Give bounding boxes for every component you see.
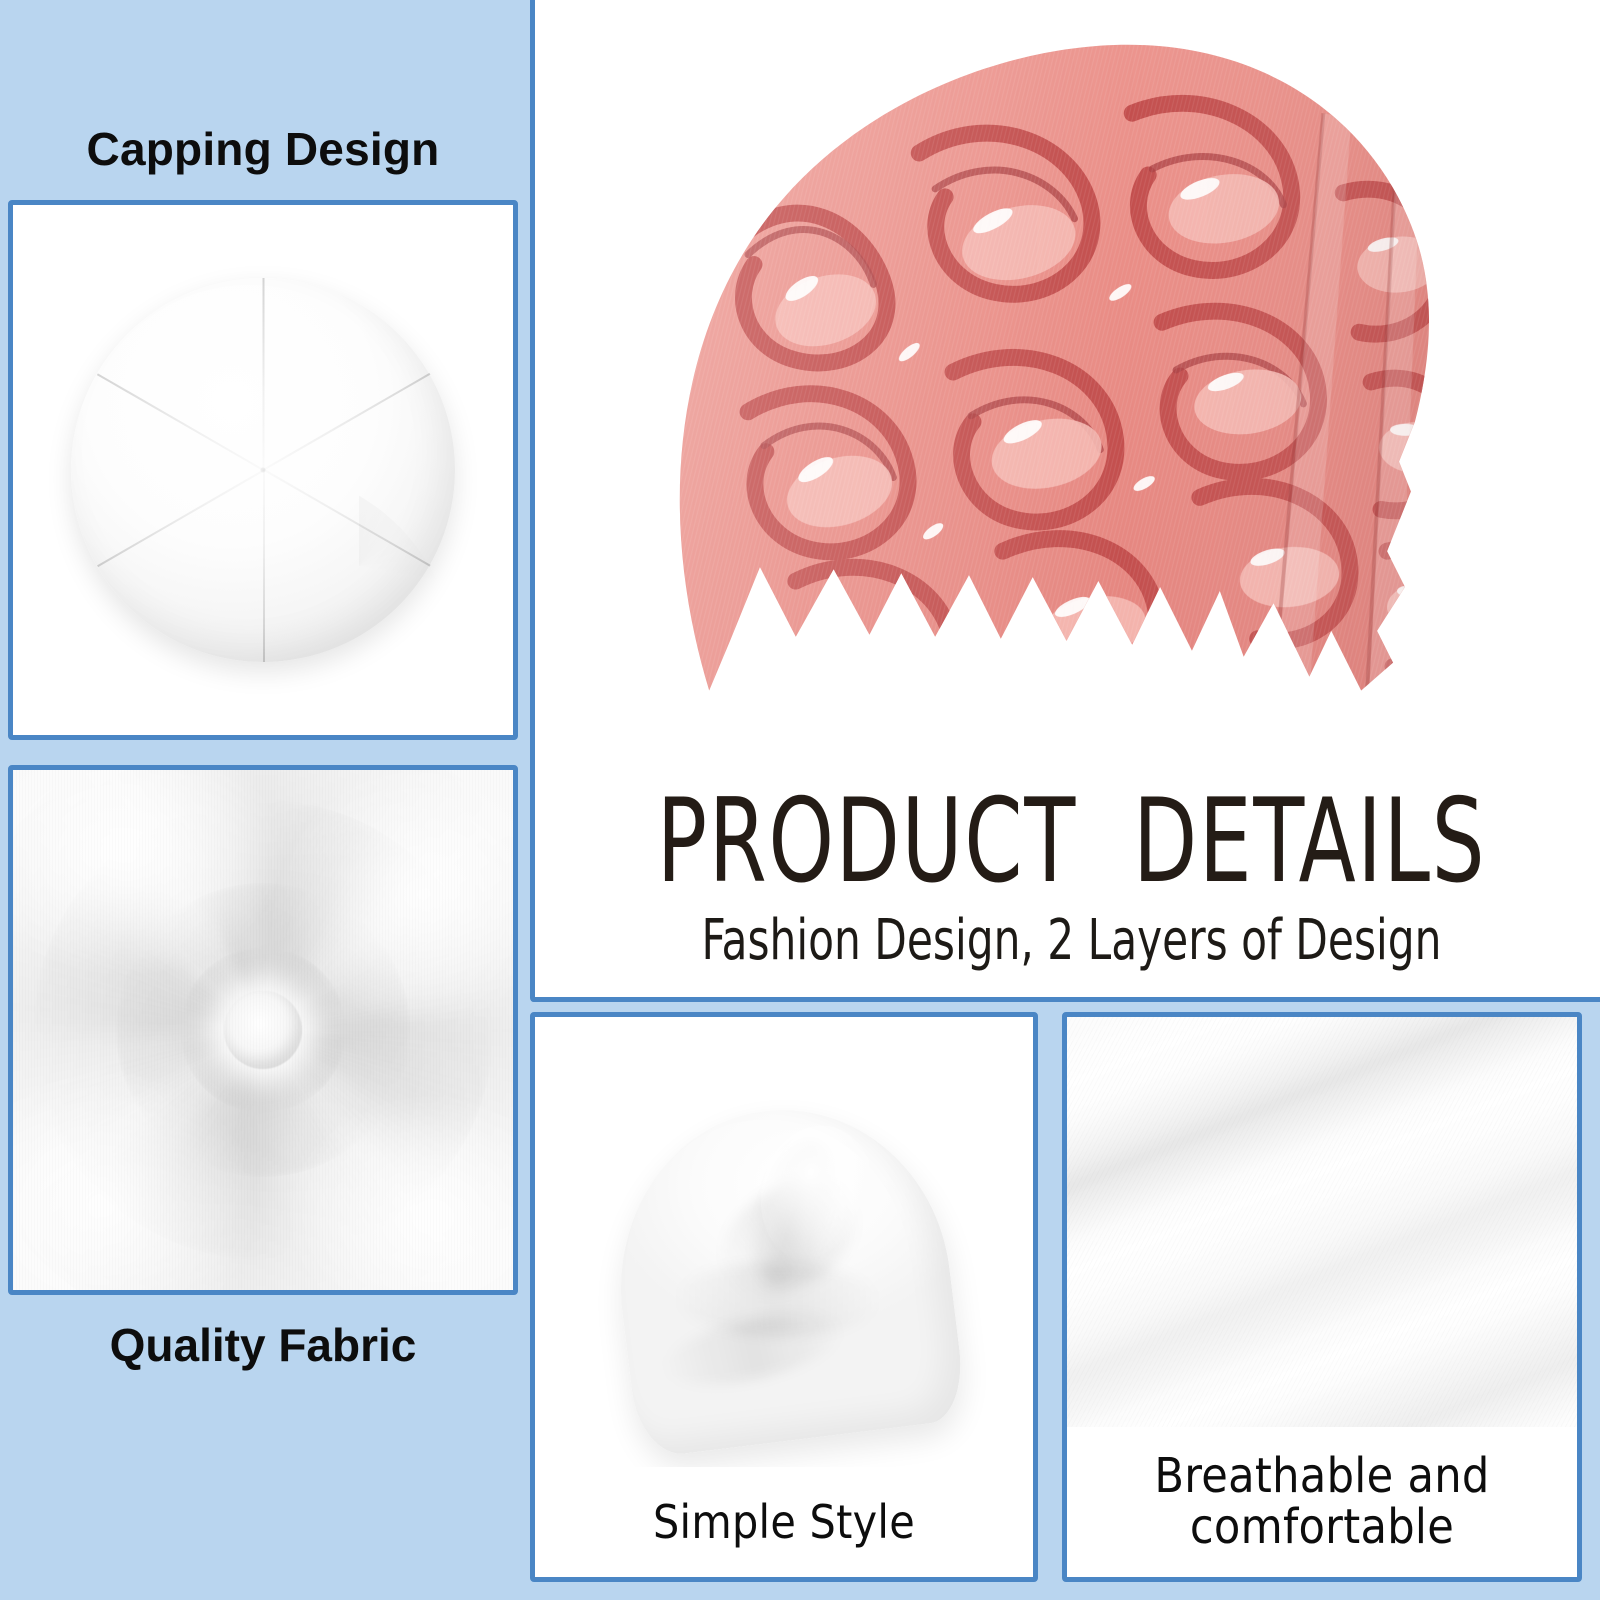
infographic-canvas: Capping Design Quality Fabric bbox=[0, 0, 1600, 1600]
brain-beanie-illustration bbox=[535, 0, 1600, 762]
cap-seam bbox=[263, 278, 265, 470]
brain-beanie-image bbox=[535, 0, 1600, 762]
page-title: PRODUCT DETAILS bbox=[642, 785, 1500, 899]
cap-seam bbox=[263, 373, 430, 470]
page-subtitle: Fashion Design, 2 Layers of Design bbox=[621, 913, 1522, 969]
simple-style-caption: Simple Style bbox=[535, 1467, 1033, 1577]
quality-fabric-card[interactable] bbox=[8, 765, 518, 1295]
capping-design-label: Capping Design bbox=[8, 108, 518, 190]
breathable-fabric-image bbox=[1067, 1017, 1577, 1427]
fabric-twill-texture bbox=[1067, 1017, 1577, 1427]
simple-style-card[interactable]: Simple Style bbox=[530, 1012, 1038, 1582]
breathable-comfortable-card[interactable]: Breathable and comfortable bbox=[1062, 1012, 1582, 1582]
white-beanie bbox=[600, 1091, 968, 1459]
fabric-knit-texture bbox=[13, 770, 513, 1290]
capping-design-image bbox=[13, 205, 513, 735]
white-cap-top-view bbox=[71, 278, 455, 662]
quality-fabric-label: Quality Fabric bbox=[8, 1300, 518, 1390]
product-details-panel[interactable]: PRODUCT DETAILS Fashion Design, 2 Layers… bbox=[530, 0, 1600, 1002]
details-title-block: PRODUCT DETAILS Fashion Design, 2 Layers… bbox=[535, 785, 1600, 997]
cap-gore-shading bbox=[263, 470, 455, 662]
cap-seam bbox=[263, 470, 265, 662]
capping-design-card[interactable] bbox=[8, 200, 518, 740]
cap-seam bbox=[263, 469, 430, 566]
cap-seam bbox=[97, 469, 264, 566]
quality-fabric-image bbox=[13, 770, 513, 1290]
breathable-comfortable-caption: Breathable and comfortable bbox=[1067, 1427, 1577, 1577]
cap-seam bbox=[97, 373, 264, 470]
